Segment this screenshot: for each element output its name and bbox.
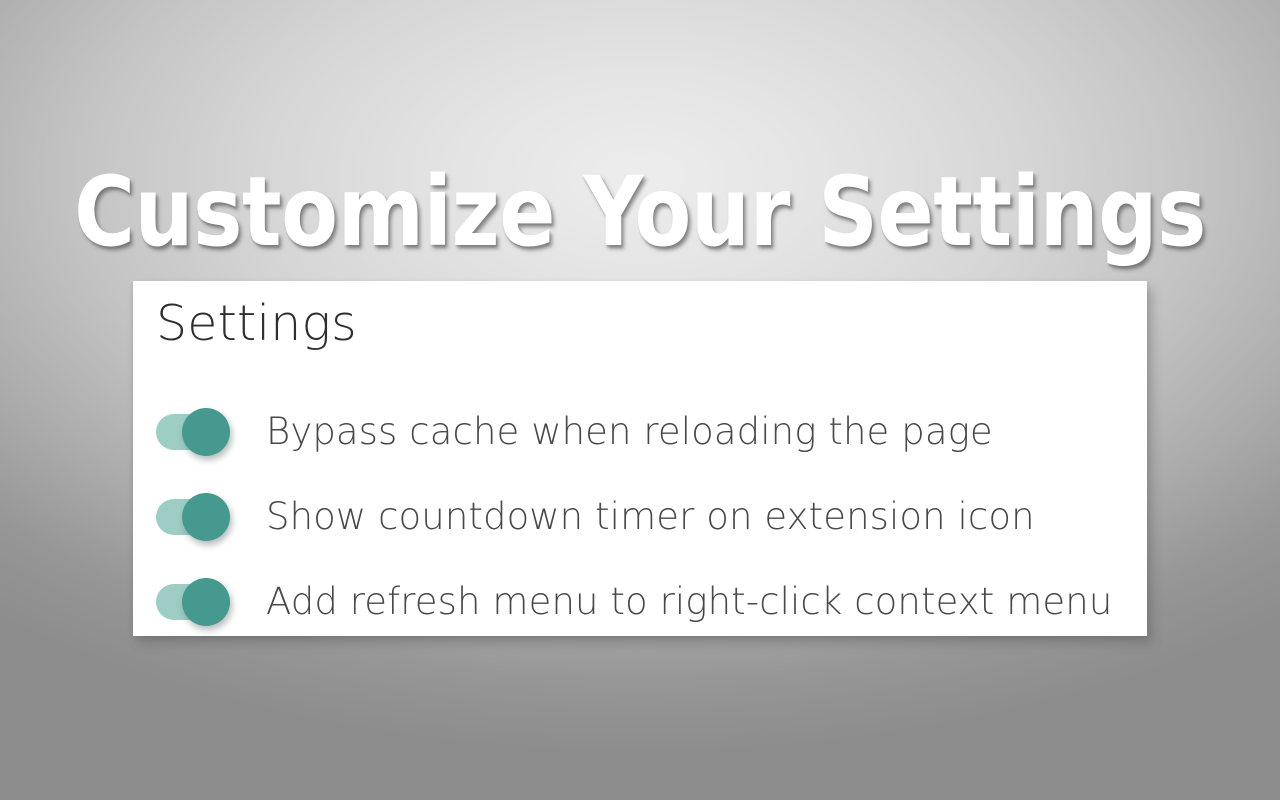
settings-list: Bypass cache when reloading the page Sho… [133,389,1147,644]
setting-row-bypass-cache: Bypass cache when reloading the page [133,389,1147,474]
page-title: Customize Your Settings [26,160,1255,264]
page-background: Customize Your Settings Settings Bypass … [0,0,1280,800]
toggle-knob [182,578,230,626]
toggle-knob [182,493,230,541]
toggle-countdown-timer[interactable] [156,499,230,535]
setting-label-context-menu: Add refresh menu to right-click context … [266,580,1112,624]
toggle-knob [182,408,230,456]
toggle-bypass-cache[interactable] [156,414,230,450]
setting-label-countdown-timer: Show countdown timer on extension icon [266,495,1035,539]
card-heading: Settings [156,295,357,353]
setting-row-context-menu: Add refresh menu to right-click context … [133,559,1147,644]
setting-label-bypass-cache: Bypass cache when reloading the page [266,410,993,454]
setting-row-countdown-timer: Show countdown timer on extension icon [133,474,1147,559]
toggle-context-menu[interactable] [156,584,230,620]
settings-card: Settings Bypass cache when reloading the… [133,281,1147,636]
